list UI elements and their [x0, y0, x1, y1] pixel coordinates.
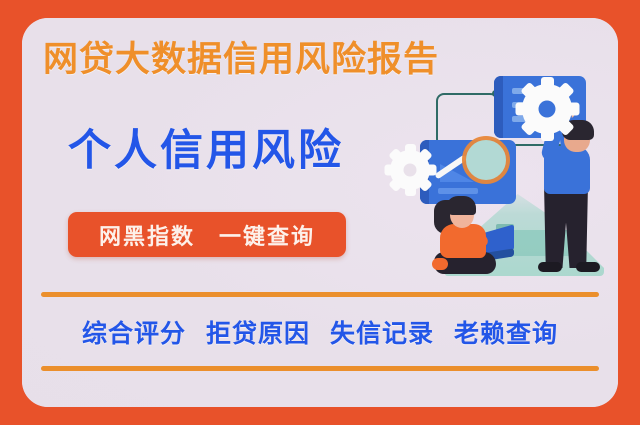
- small-gear-icon: [390, 150, 430, 190]
- feature-item-rejection-reason[interactable]: 拒贷原因: [206, 314, 310, 350]
- promo-banner: 网贷大数据信用风险报告 个人信用风险 网黑指数 一键查询 综合评分 拒贷原因 失…: [0, 0, 640, 425]
- page-title: 网贷大数据信用风险报告: [43, 40, 473, 80]
- sitting-person-hair: [446, 196, 476, 215]
- banner-panel: 网贷大数据信用风险报告 个人信用风险 网黑指数 一键查询 综合评分 拒贷原因 失…: [22, 18, 618, 407]
- standing-person-shoe-right: [576, 262, 600, 272]
- feature-item-default-record[interactable]: 失信记录: [330, 314, 434, 350]
- sitting-person: [432, 196, 518, 280]
- sitting-person-foot: [432, 258, 448, 270]
- magnifying-glass-icon: [462, 136, 510, 184]
- feature-list: 综合评分 拒贷原因 失信记录 老赖查询: [41, 306, 599, 358]
- divider-bottom: [41, 366, 599, 371]
- feature-item-debtor-query[interactable]: 老赖查询: [454, 314, 558, 350]
- divider-top: [41, 292, 599, 297]
- feature-item-score[interactable]: 综合评分: [82, 314, 186, 350]
- left-card-bar: [438, 188, 478, 194]
- standing-person-shoe-left: [538, 262, 562, 272]
- query-cta-button[interactable]: 网黑指数 一键查询: [68, 212, 346, 257]
- top-card-spine: [494, 76, 503, 138]
- query-cta-label: 网黑指数 一键查询: [99, 219, 315, 251]
- illustration: [374, 58, 618, 290]
- standing-person-legs: [544, 184, 588, 268]
- page-subtitle: 个人信用风险: [68, 126, 344, 176]
- large-gear-icon: [522, 84, 572, 134]
